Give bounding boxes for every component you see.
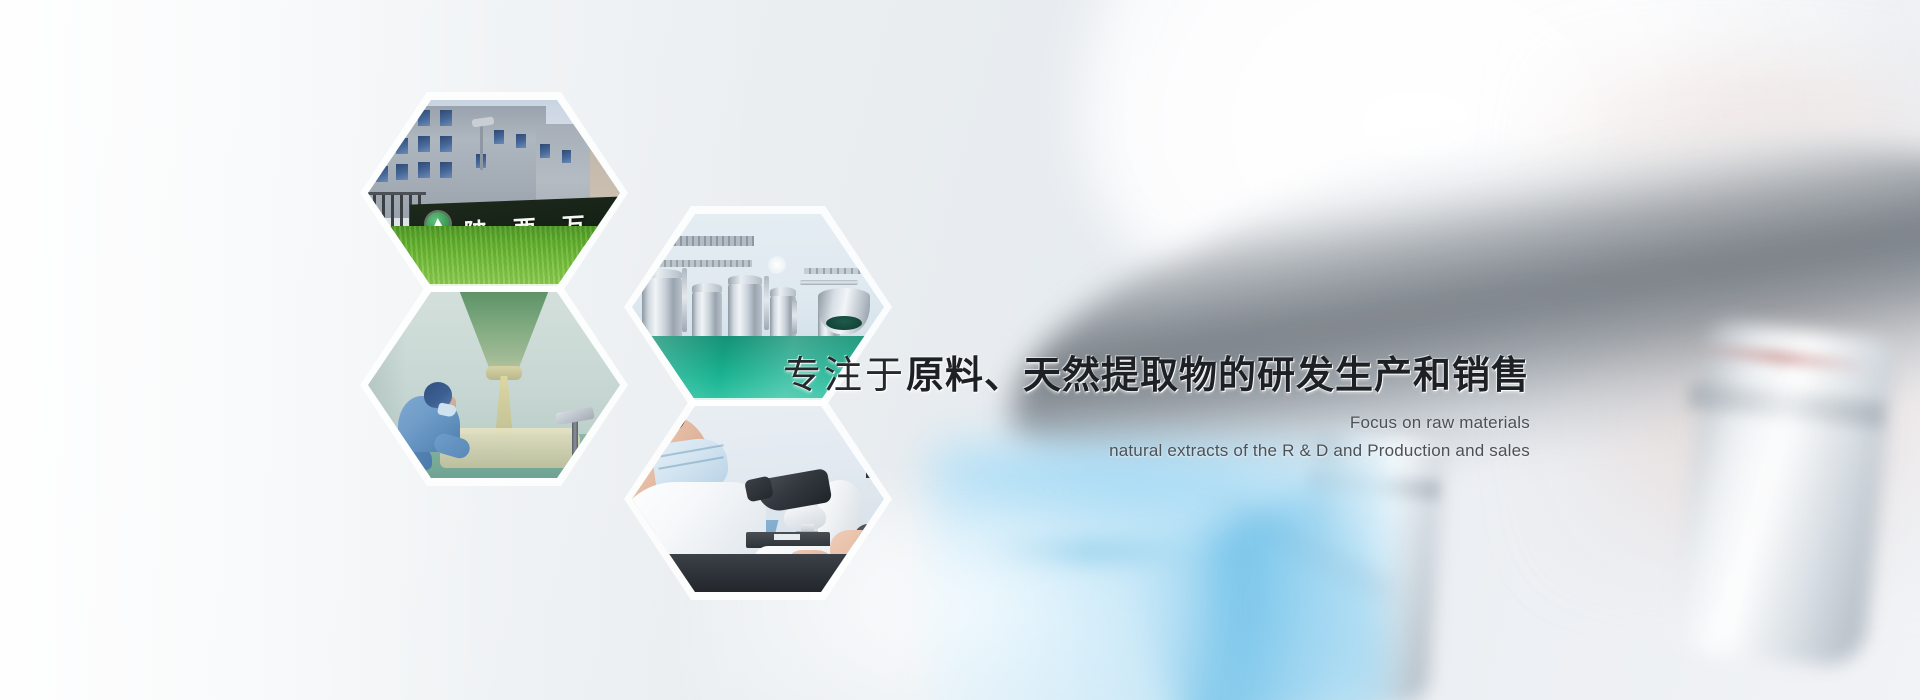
window bbox=[418, 162, 430, 178]
overhead-gantry bbox=[646, 236, 754, 246]
window bbox=[516, 134, 526, 148]
window bbox=[376, 114, 388, 130]
window bbox=[396, 164, 408, 180]
microscope-slide bbox=[774, 534, 800, 540]
extraction-tank bbox=[728, 282, 762, 342]
window bbox=[440, 136, 452, 152]
extraction-tank bbox=[692, 290, 722, 342]
extract-pile bbox=[454, 412, 566, 462]
window bbox=[540, 144, 550, 158]
banner-headline-lead: 专注于 bbox=[783, 355, 906, 397]
window bbox=[494, 130, 504, 144]
window bbox=[440, 162, 452, 178]
vertical-pipe bbox=[682, 268, 687, 332]
hexagon-photo-cluster: 陕 西 万 源 bbox=[0, 0, 920, 700]
cleanroom-corner bbox=[368, 292, 406, 478]
vertical-pipe bbox=[792, 300, 797, 334]
overhead-gantry-lower bbox=[660, 260, 752, 267]
banner-copy: 专注于原料、天然提取物的研发生产和销售 Focus on raw materia… bbox=[690, 352, 1530, 464]
horizontal-pipe bbox=[800, 280, 858, 285]
vertical-pipe bbox=[764, 276, 769, 330]
banner-subtitle-line-2: natural extracts of the R & D and Produc… bbox=[690, 438, 1530, 464]
window bbox=[418, 136, 430, 152]
window bbox=[562, 150, 571, 163]
banner-headline-emphasis: 原料、天然提取物的研发生产和销售 bbox=[906, 355, 1530, 397]
street-light-pole bbox=[480, 122, 483, 170]
banner-subtitle-line-1: Focus on raw materials bbox=[690, 410, 1530, 436]
banner-headline: 专注于原料、天然提取物的研发生产和销售 bbox=[690, 352, 1530, 400]
window bbox=[440, 110, 452, 126]
ceiling-lamp bbox=[768, 256, 786, 274]
vessel-contents bbox=[826, 316, 862, 330]
hero-banner: 陕 西 万 源 bbox=[0, 0, 1920, 700]
